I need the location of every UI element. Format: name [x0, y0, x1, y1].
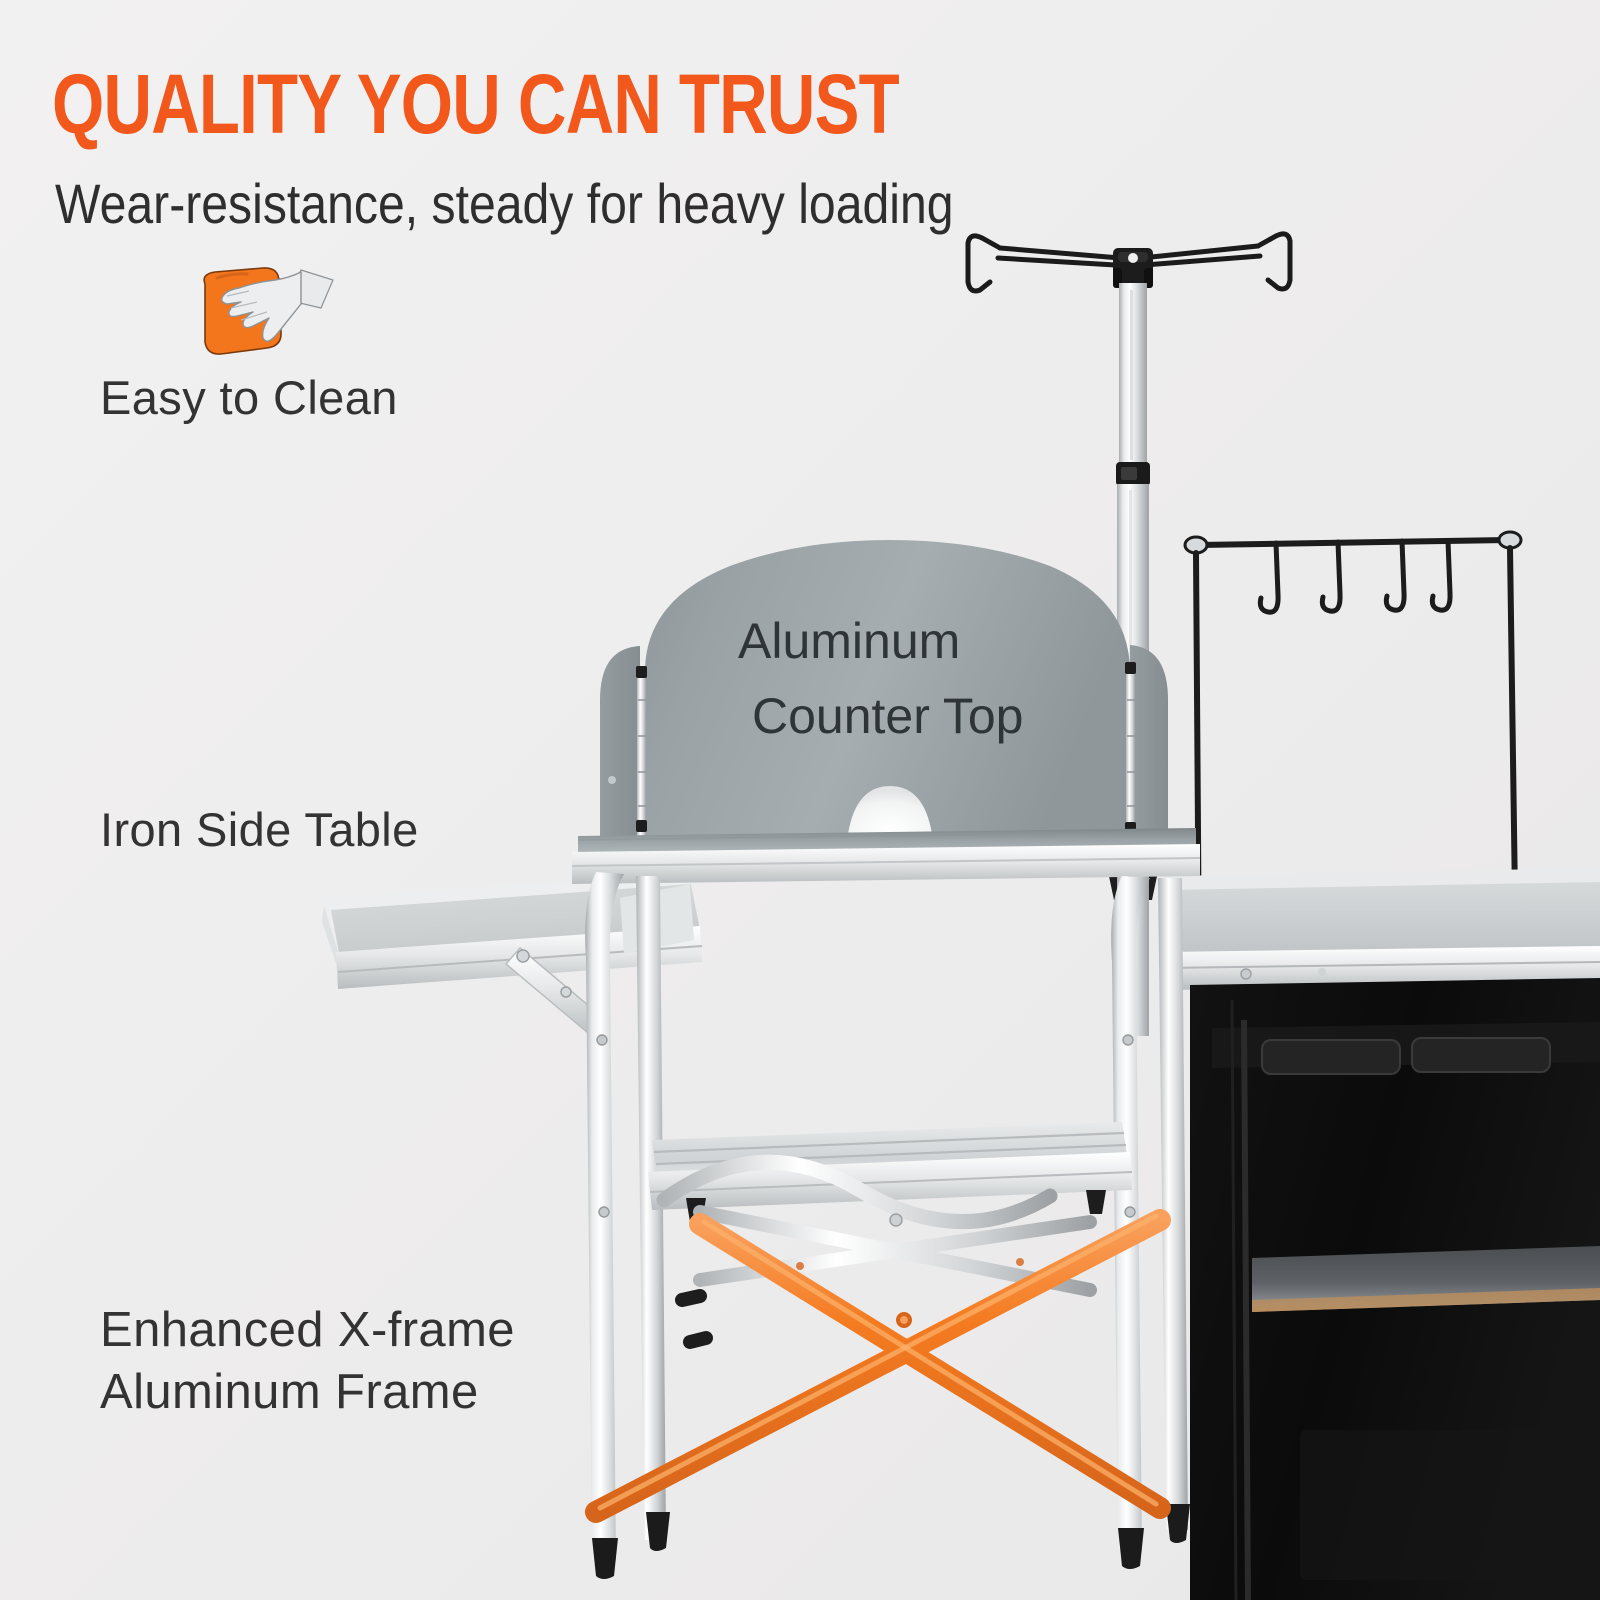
feature-label-aluminum-counter-top: Aluminum Counter Top [738, 604, 1023, 754]
fabric-cabinet [1190, 978, 1600, 1600]
x-frame-line-1: Enhanced X-frame [100, 1303, 515, 1357]
counter-top-line-1: Aluminum [738, 613, 960, 669]
feature-label-easy-to-clean: Easy to Clean [100, 368, 398, 427]
counter-top-line-2: Counter Top [752, 679, 1023, 754]
lamp-pole-collar [1116, 462, 1150, 486]
page-subtitle: Wear-resistance, steady for heavy loadin… [55, 176, 954, 232]
feature-label-iron-side-table: Iron Side Table [100, 800, 419, 859]
aluminum-counter-top [572, 828, 1200, 884]
page-title: QUALITY YOU CAN TRUST [52, 62, 899, 146]
right-table-top [1166, 868, 1600, 990]
feature-label-x-frame: Enhanced X-frame Aluminum Frame [100, 1300, 515, 1423]
mesh-pocket [1262, 1040, 1400, 1074]
windscreen-left-panel [600, 646, 640, 838]
cleaning-cloth-hand-icon [183, 260, 353, 370]
mesh-pocket [1412, 1038, 1550, 1072]
windscreen-hinge-right [1125, 662, 1136, 836]
windscreen-hinge-left [636, 666, 647, 836]
lamp-hub [1113, 248, 1153, 288]
x-frame-line-2: Aluminum Frame [100, 1365, 479, 1419]
windscreen-right-panel [1130, 645, 1168, 834]
marketing-banner: QUALITY YOU CAN TRUST Wear-resistance, s… [0, 0, 1600, 1600]
